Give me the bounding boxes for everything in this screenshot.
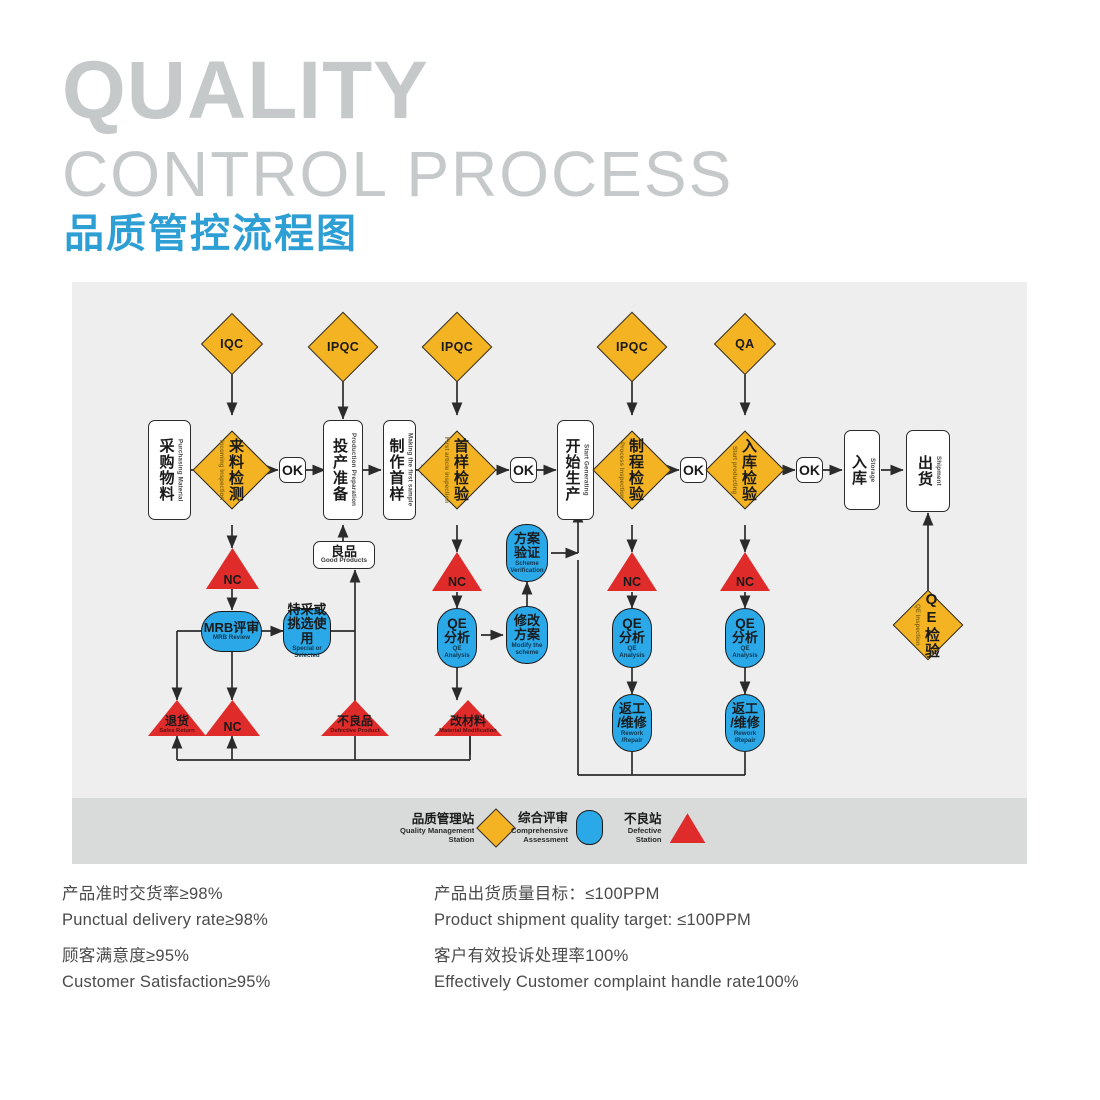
sales-return-triangle[interactable]: 退货 Sales Return (148, 700, 206, 736)
metric-label-en: Effectively Customer complaint handle ra… (434, 970, 799, 996)
nc-label: NC (623, 575, 641, 589)
scheme-verification-capsule[interactable]: 方案 验证 Scheme Verification (506, 524, 548, 582)
node-label-en: Storage (869, 458, 876, 482)
node-label-cn-2: 分析 (619, 631, 645, 646)
process-start-generating[interactable]: 开始生产 Start Generating (557, 420, 594, 520)
legend-label-en-1: Defective (624, 826, 662, 835)
process-shipment[interactable]: 出货 Shipment (906, 430, 950, 512)
legend-capsule-icon (576, 810, 603, 845)
station-label: IPQC (327, 340, 359, 354)
ok-label: OK (282, 462, 303, 478)
node-label-en: Sales Return (159, 728, 194, 734)
node-label-cn: 来料检测 (225, 438, 246, 502)
material-modification-triangle[interactable]: 改材料 Material Modification (434, 700, 502, 736)
node-label-cn: 制程检验 (625, 438, 646, 502)
modify-scheme-capsule[interactable]: 修改 方案 Modify the scheme (506, 606, 548, 664)
node-label-cn-1: QE (622, 616, 642, 631)
nc-triangle-process[interactable]: NC (607, 552, 657, 591)
nc-label: NC (736, 575, 754, 589)
qe-analysis-capsule-first-article[interactable]: QE 分析 QE Analysis (437, 608, 477, 668)
node-label-cn-2: 验证 (514, 546, 540, 561)
process-making-first-sample[interactable]: 制作首样 Making the first sample (383, 420, 416, 520)
node-label-en-2: Analysis (444, 653, 469, 660)
node-label-cn: 不良品 (337, 715, 373, 728)
decision-ok-3[interactable]: OK (680, 457, 707, 483)
node-label-en: Production Preparation (350, 433, 357, 506)
node-label-en: QE Inspection (914, 604, 921, 646)
node-label-cn: MRB评审 (204, 621, 260, 636)
node-label-cn-2: /维修 (617, 716, 647, 731)
rework-repair-capsule-storage[interactable]: 返工 /维修 Rework /Repair (725, 694, 765, 752)
node-label-cn: 制作首样 (386, 438, 407, 502)
metric-punctual-delivery: 产品准时交货率≥98% Punctual delivery rate≥98% (62, 882, 268, 933)
node-label-en: Material Modification (439, 728, 497, 734)
qe-analysis-capsule-process[interactable]: QE 分析 QE Analysis (612, 608, 652, 668)
page-title-sub: CONTROL PROCESS (62, 142, 733, 206)
legend-label-en-2: Station (400, 835, 474, 844)
nc-triangle-storage[interactable]: NC (720, 552, 770, 591)
ok-label: OK (799, 462, 820, 478)
node-label-cn-1: QE (735, 616, 755, 631)
node-label-cn-2: /维修 (730, 716, 760, 731)
nc-label: NC (223, 573, 241, 587)
node-label-en-2: Verification (510, 568, 543, 575)
node-label-cn-2: 挑选使用 (284, 617, 330, 646)
node-label-cn: 开始生产 (562, 438, 583, 502)
node-label-cn-1: QE (447, 616, 467, 631)
node-label-cn: 出货 (914, 455, 935, 487)
nc-label: NC (223, 720, 241, 734)
qe-analysis-capsule-storage[interactable]: QE 分析 QE Analysis (725, 608, 765, 668)
node-label-en: First article inspection (443, 437, 450, 503)
legend-label-cn: 综合评审 (511, 811, 568, 825)
node-label-en-2: Analysis (619, 653, 644, 660)
node-label-cn: QE检验 (921, 591, 942, 659)
legend-item-quality-management-station: 品质管理站 Quality Management Station (400, 812, 510, 845)
nc-label: NC (448, 575, 466, 589)
node-label-cn-1: 特采或 (287, 603, 326, 618)
node-label-en: Defective Product (330, 728, 379, 734)
metric-label-en: Customer Satisfaction≥95% (62, 970, 270, 996)
node-label-en: Shipment (935, 456, 942, 486)
node-label-cn: 入库 (848, 454, 869, 486)
node-label-cn: 投产准备 (329, 438, 350, 502)
node-label-en-2: /Repair (622, 738, 643, 745)
decision-ok-2[interactable]: OK (510, 457, 537, 483)
station-label: IQC (220, 337, 243, 351)
node-label-en-2: Analysis (732, 653, 757, 660)
good-products-box[interactable]: 良品 Good Products (313, 541, 375, 569)
node-label-cn-2: 分析 (444, 631, 470, 646)
nc-triangle-incoming[interactable]: NC (206, 548, 259, 589)
page-title-main: QUALITY (62, 52, 429, 130)
node-label-cn: 采购物料 (156, 438, 177, 502)
metric-label-cn: 产品准时交货率≥98% (62, 882, 268, 908)
node-label-cn-1: 返工 (619, 702, 645, 717)
node-label-cn-1: 返工 (732, 702, 758, 717)
node-label-en: Purchasing Material (177, 439, 184, 502)
node-label-cn: 改材料 (450, 715, 486, 728)
legend-item-defective-station: 不良站 Defective Station (624, 812, 706, 845)
node-label-cn-2: 方案 (514, 628, 540, 643)
defective-product-triangle[interactable]: 不良品 Defective Product (321, 700, 389, 736)
node-label-en: Start Generating (583, 444, 590, 496)
legend-label-cn: 品质管理站 (400, 812, 474, 826)
node-label-en: Making the first sample (407, 433, 414, 506)
node-label-cn: 退货 (165, 715, 189, 728)
special-or-selected-capsule[interactable]: 特采或 挑选使用 Special or Selected (283, 608, 331, 655)
ok-label: OK (683, 462, 704, 478)
metric-customer-satisfaction: 顾客满意度≥95% Customer Satisfaction≥95% (62, 944, 270, 995)
metric-label-en: Product shipment quality target: ≤100PPM (434, 908, 751, 934)
legend-label-en-2: Assessment (511, 835, 568, 844)
legend-label-en-1: Comprehensive (511, 826, 568, 835)
nc-triangle-first-article[interactable]: NC (432, 552, 482, 591)
node-label-en: Good Products (321, 558, 367, 565)
page-title-chinese: 品质管控流程图 (64, 214, 358, 254)
metric-label-cn: 顾客满意度≥95% (62, 944, 270, 970)
station-label: IPQC (441, 340, 473, 354)
process-production-preparation[interactable]: 投产准备 Production Preparation (323, 420, 363, 520)
metric-label-en: Punctual delivery rate≥98% (62, 908, 268, 934)
node-label-en: MRB Review (213, 635, 250, 642)
rework-repair-capsule-process[interactable]: 返工 /维修 Rework /Repair (612, 694, 652, 752)
nc-triangle-mrb[interactable]: NC (205, 700, 260, 736)
node-label-en: Incoming Inspection (218, 440, 225, 500)
process-storage[interactable]: 入库 Storage (844, 430, 880, 510)
node-label-cn-1: 修改 (514, 614, 540, 629)
metric-complaint-handle-rate: 客户有效投诉处理率100% Effectively Customer compl… (434, 944, 799, 995)
node-label-cn-1: 方案 (514, 532, 540, 547)
metric-label-cn: 产品出货质量目标：≤100PPM (434, 882, 751, 908)
station-label: QA (735, 337, 755, 351)
node-label-en-2: scheme (515, 650, 538, 657)
process-purchasing-material[interactable]: 采购物料 Purchasing Material (148, 420, 191, 520)
quality-control-process-poster: QUALITY CONTROL PROCESS 品质管控流程图 (0, 0, 1100, 1100)
legend-label-en-1: Quality Management (400, 826, 474, 835)
node-label-cn: 良品 (331, 545, 357, 559)
mrb-review-capsule[interactable]: MRB评审 MRB Review (201, 611, 262, 652)
metric-shipment-quality-target: 产品出货质量目标：≤100PPM Product shipment qualit… (434, 882, 751, 933)
decision-ok-1[interactable]: OK (279, 457, 306, 483)
node-label-en: Process Inspection (618, 442, 625, 499)
legend-triangle-icon (670, 813, 706, 843)
ok-label: OK (513, 462, 534, 478)
legend-label-en-2: Station (624, 835, 662, 844)
node-label-cn-2: 分析 (732, 631, 758, 646)
node-label-cn: 首样检验 (450, 438, 471, 502)
metric-label-cn: 客户有效投诉处理率100% (434, 944, 799, 970)
legend-label-cn: 不良站 (624, 812, 662, 826)
decision-ok-4[interactable]: OK (796, 457, 823, 483)
node-label-en: Start producting (731, 446, 738, 494)
node-label-en: Special or Selected (284, 646, 330, 660)
legend-item-comprehensive-assessment: 综合评审 Comprehensive Assessment (511, 810, 603, 845)
node-label-cn: 入库检验 (738, 438, 759, 502)
station-label: IPQC (616, 340, 648, 354)
node-label-en-2: /Repair (735, 738, 756, 745)
